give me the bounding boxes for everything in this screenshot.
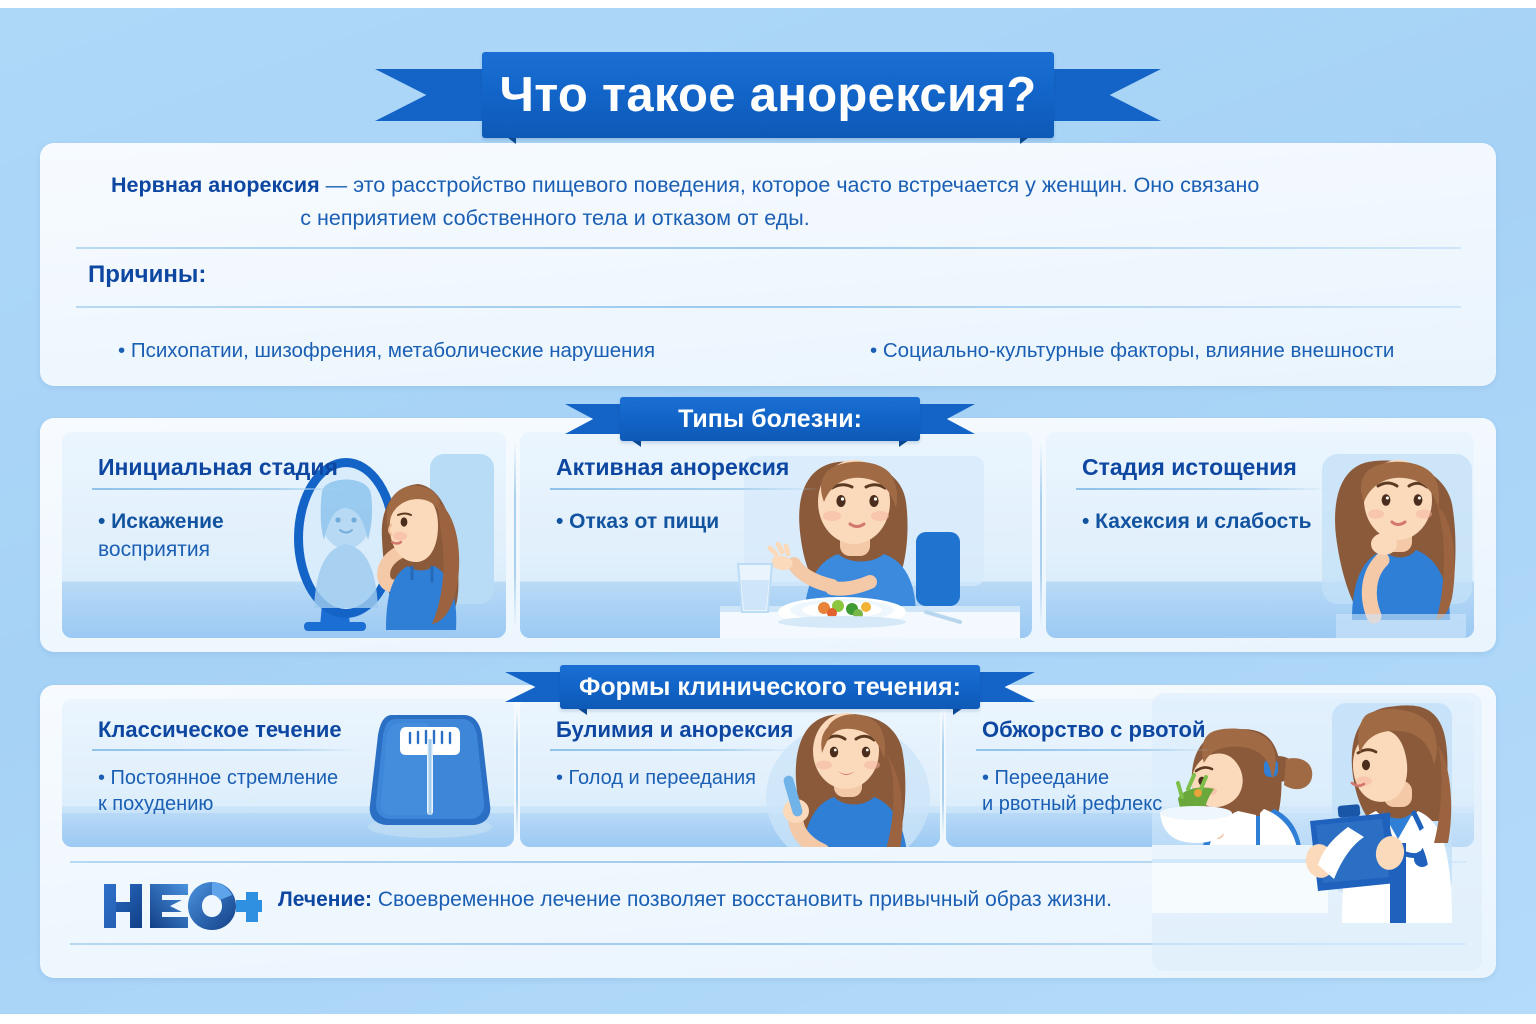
- treatment-label: Лечение:: [278, 888, 372, 911]
- form-card-classic: Классическое течение • Постоянное стремл…: [62, 699, 514, 847]
- type-card-exhaustion: Стадия истощения • Кахексия и слабость: [1046, 432, 1474, 638]
- intro-line-1: — это расстройство пищевого поведения, к…: [320, 173, 1260, 197]
- footer-divider-bottom: [70, 943, 1466, 945]
- neo-plus-logo: [102, 878, 262, 934]
- type-card-title: Инициальная стадия: [98, 454, 338, 481]
- types-banner: Типы болезни:: [565, 395, 975, 443]
- title-ribbon: Что такое анорексия?: [375, 46, 1161, 144]
- forms-banner: Формы клинического течения:: [505, 663, 1035, 711]
- treatment-text: Лечение: Своевременное лечение позволяет…: [278, 888, 1112, 912]
- form-card-bullet: • Постоянное стремление к похудению: [98, 765, 338, 817]
- form-card-bullet: • Переедание и рвотный рефлекс: [982, 765, 1162, 817]
- bullet-rest: к похудению: [98, 793, 213, 815]
- bullet-strong: • Голод и переедания: [556, 767, 756, 789]
- type-card-bullet: • Отказ от пищи: [556, 508, 719, 536]
- card-title-underline: [550, 488, 820, 490]
- bullet-strong: • Переедание: [982, 767, 1109, 789]
- form-card-title: Классическое течение: [98, 717, 342, 743]
- type-card-bullet: • Искажение восприятия: [98, 508, 224, 564]
- type-card-active: Активная анорексия • Отказ от пищи: [520, 432, 1032, 638]
- forms-panel: Классическое течение • Постоянное стремл…: [40, 685, 1496, 978]
- forms-banner-label: Формы клинического течения:: [560, 665, 980, 709]
- bullet-strong: • Отказ от пищи: [556, 510, 719, 533]
- intro-divider-bottom: [76, 306, 1461, 308]
- bullet-rest: и рвотный рефлекс: [982, 793, 1162, 815]
- type-card-initial: Инициальная стадия • Искажение восприяти…: [62, 432, 506, 638]
- type-card-title: Стадия истощения: [1082, 454, 1297, 481]
- form-card-bullet: • Голод и переедания: [556, 765, 756, 791]
- types-banner-label: Типы болезни:: [620, 397, 920, 441]
- form-card-binge: Обжорство с рвотой • Переедание и рвотны…: [946, 699, 1474, 847]
- causes-heading: Причины:: [88, 261, 206, 289]
- cause-item-2: • Социально-культурные факторы, влияние …: [870, 339, 1394, 363]
- treatment-body: Своевременное лечение позволяет восстано…: [372, 888, 1112, 911]
- form-card-title: Булимия и анорексия: [556, 717, 793, 743]
- bullet-rest: восприятия: [98, 538, 210, 561]
- footer-divider-top: [70, 861, 1466, 863]
- types-panel: Инициальная стадия • Искажение восприяти…: [40, 418, 1496, 652]
- type-card-bullet: • Кахексия и слабость: [1082, 508, 1312, 536]
- card-divider-1: [514, 442, 516, 628]
- bullet-strong: • Искажение: [98, 510, 224, 533]
- bullet-strong: • Постоянное стремление: [98, 767, 338, 789]
- intro-line-2: с неприятием собственного тела и отказом…: [75, 202, 1465, 235]
- bathroom-scale-illustration: [348, 705, 508, 843]
- card-title-underline: [976, 749, 1212, 751]
- intro-divider-top: [76, 247, 1461, 249]
- form-card-title: Обжорство с рвотой: [982, 717, 1206, 743]
- card-title-underline: [92, 488, 354, 490]
- intro-lead: Нервная анорексия: [111, 173, 320, 197]
- card-title-underline: [92, 749, 358, 751]
- intro-text: Нервная анорексия — это расстройство пищ…: [75, 169, 1465, 235]
- card-title-underline: [550, 749, 794, 751]
- card-divider-1: [516, 709, 518, 837]
- bullet-strong: • Кахексия и слабость: [1082, 510, 1312, 533]
- cause-item-1: • Психопатии, шизофрения, метаболические…: [118, 339, 655, 363]
- infographic-page: Что такое анорексия? Нервная анорексия —…: [0, 0, 1536, 1024]
- card-divider-2: [1040, 442, 1042, 628]
- woman-exhausted-illustration: [1296, 438, 1474, 638]
- page-title: Что такое анорексия?: [482, 52, 1054, 138]
- top-edge-strip: [0, 0, 1536, 8]
- card-divider-2: [942, 709, 944, 837]
- bottom-edge-strip: [0, 1014, 1536, 1024]
- card-title-underline: [1076, 488, 1328, 490]
- form-card-bulimia: Булимия и анорексия • Голод и переедания: [520, 699, 940, 847]
- intro-panel: Нервная анорексия — это расстройство пищ…: [40, 143, 1496, 386]
- type-card-title: Активная анорексия: [556, 454, 789, 481]
